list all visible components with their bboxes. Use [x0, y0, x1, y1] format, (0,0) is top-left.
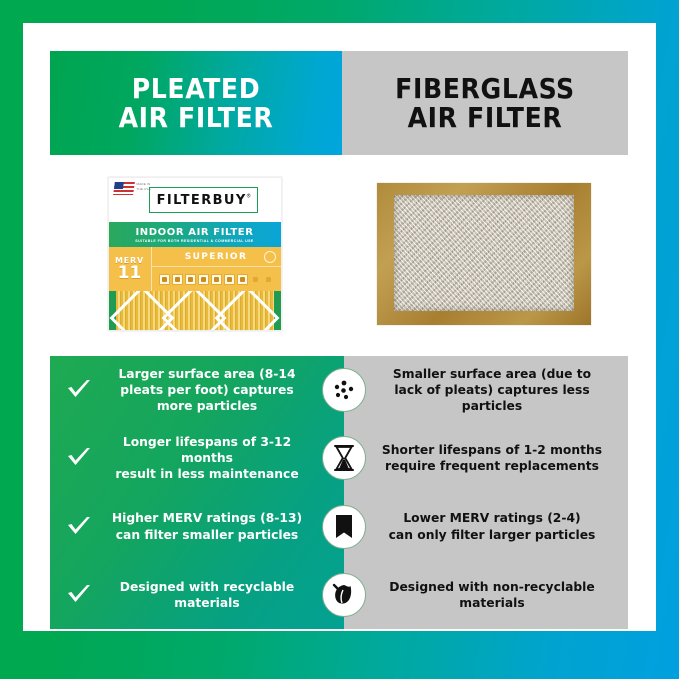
checkmark-icon: [60, 379, 98, 401]
infographic-canvas: PLEATED AIR FILTER FIBERGLASS AIR FILTER…: [0, 0, 679, 679]
header-row: PLEATED AIR FILTER FIBERGLASS AIR FILTER: [50, 51, 628, 155]
row4-left-cell: Designed with recyclable materials: [50, 579, 344, 611]
row3-right-cell: Lower MERV ratings (2-4) can only filter…: [344, 510, 628, 542]
row3-left-text: Higher MERV ratings (8-13) can filter sm…: [98, 510, 338, 542]
row2-left-line1: Longer lifespans of 3-12 months: [98, 434, 316, 466]
merv-value: 11: [118, 265, 142, 282]
row2-right-line1: Shorter lifespans of 1-2 months: [372, 442, 612, 458]
row2-left-line2: result in less maintenance: [98, 466, 316, 482]
diamond-support-2: [162, 291, 227, 331]
merv-badge: MERV 11: [109, 247, 152, 291]
leaf-icon: [322, 573, 366, 617]
row1-left-line2: pleats per foot) captures: [98, 382, 316, 398]
filterbuy-logo: FILTERBUY®: [149, 187, 259, 213]
comparison-row: Larger surface area (8-14 pleats per foo…: [50, 356, 628, 424]
checkmark-icon: [60, 516, 98, 538]
row4-left-line1: Designed with recyclable: [98, 579, 316, 595]
feature-icon-bacteria: [211, 274, 222, 285]
row4-left-line2: materials: [98, 595, 316, 611]
particles-icon: [322, 368, 366, 412]
pleat-support-grid: [116, 291, 274, 331]
pleated-box-top: MADE INTHE USA FILTERBUY®: [109, 178, 281, 222]
header-pleated-line1: PLEATED: [119, 74, 274, 103]
feature-icon-dust: [159, 274, 170, 285]
row2-left-text: Longer lifespans of 3-12 months result i…: [98, 434, 338, 483]
comparison-row: Longer lifespans of 3-12 months result i…: [50, 424, 628, 492]
comparison-panel: Larger surface area (8-14 pleats per foo…: [50, 356, 628, 629]
row1-left-line3: more particles: [98, 398, 316, 414]
feature-icon-smoke: [224, 274, 235, 285]
row1-right-line2: lack of pleats) captures less: [372, 382, 612, 398]
row2-left-cell: Longer lifespans of 3-12 months result i…: [50, 434, 344, 483]
row1-right-cell: Smaller surface area (due to lack of ple…: [344, 366, 628, 415]
recycle-circle-icon: [264, 251, 276, 263]
row3-left-line2: can filter smaller particles: [98, 527, 316, 543]
row4-left-text: Designed with recyclable materials: [98, 579, 338, 611]
comparison-rows: Larger surface area (8-14 pleats per foo…: [50, 356, 628, 629]
row1-right-line3: particles: [372, 398, 612, 414]
pleated-filter-product-image: MADE INTHE USA FILTERBUY® INDOOR AIR FIL…: [108, 177, 282, 331]
feature-icon-mold: [185, 274, 196, 285]
products-row: MADE INTHE USA FILTERBUY® INDOOR AIR FIL…: [50, 160, 628, 348]
fiberglass-mesh-texture: [394, 195, 574, 311]
header-pleated-line2: AIR FILTER: [119, 103, 274, 132]
diamond-support-1: [109, 291, 174, 331]
feature-icon-dander: [198, 274, 209, 285]
row4-right-line1: Designed with non-recyclable: [372, 579, 612, 595]
filterbuy-logo-text: FILTERBUY: [157, 193, 247, 208]
row1-left-text: Larger surface area (8-14 pleats per foo…: [98, 366, 338, 415]
pleated-box-merv-strip: MERV 11 SUPERIOR: [109, 247, 281, 291]
row2-right-line2: require frequent replacements: [372, 458, 612, 474]
comparison-row: Designed with recyclable materials Desig…: [50, 561, 628, 629]
fiberglass-filter-product-image: [377, 183, 591, 325]
bookmark-icon: [322, 505, 366, 549]
indoor-air-filter-sublabel: SUITABLE FOR BOTH RESIDENTIAL & COMMERCI…: [135, 239, 253, 243]
row1-right-line1: Smaller surface area (due to: [372, 366, 612, 382]
row3-left-cell: Higher MERV ratings (8-13) can filter sm…: [50, 510, 344, 542]
feature-icon-extra1: [250, 274, 261, 285]
row3-left-line1: Higher MERV ratings (8-13): [98, 510, 316, 526]
checkmark-icon: [60, 584, 98, 606]
trademark-symbol: ®: [247, 194, 251, 200]
row3-right-line1: Lower MERV ratings (2-4): [372, 510, 612, 526]
header-fiberglass: FIBERGLASS AIR FILTER: [342, 51, 628, 155]
checkmark-icon: [60, 447, 98, 469]
feature-icon-extra2: [263, 274, 274, 285]
comparison-row: Higher MERV ratings (8-13) can filter sm…: [50, 493, 628, 561]
header-pleated: PLEATED AIR FILTER: [50, 51, 342, 155]
usa-flag-icon: [113, 182, 135, 195]
row1-left-line1: Larger surface area (8-14: [98, 366, 316, 382]
pleated-box-grade-area: SUPERIOR: [152, 247, 281, 291]
diamond-support-3: [215, 291, 280, 331]
feature-icon-row: [152, 267, 281, 291]
pleated-media-graphic: FILTERBUY: [109, 291, 281, 331]
fiberglass-product-cell: [339, 160, 628, 348]
pleated-box-corner-text: MADE INTHE USA: [137, 182, 151, 191]
feature-icon-allergen: [237, 274, 248, 285]
row2-right-cell: Shorter lifespans of 1-2 months require …: [344, 442, 628, 474]
row4-right-line2: materials: [372, 595, 612, 611]
grade-label: SUPERIOR: [185, 252, 248, 262]
header-pleated-title: PLEATED AIR FILTER: [119, 74, 274, 133]
pleated-box-band: INDOOR AIR FILTER SUITABLE FOR BOTH RESI…: [109, 222, 281, 247]
feature-icon-pollen: [172, 274, 183, 285]
row1-left-cell: Larger surface area (8-14 pleats per foo…: [50, 366, 344, 415]
row4-right-cell: Designed with non-recyclable materials: [344, 579, 628, 611]
header-fiberglass-line1: FIBERGLASS: [395, 74, 575, 103]
pleated-product-cell: MADE INTHE USA FILTERBUY® INDOOR AIR FIL…: [50, 160, 339, 348]
header-fiberglass-title: FIBERGLASS AIR FILTER: [395, 74, 575, 133]
indoor-air-filter-label: INDOOR AIR FILTER: [135, 227, 253, 238]
header-fiberglass-line2: AIR FILTER: [395, 103, 575, 132]
row3-right-line2: can only filter larger particles: [372, 527, 612, 543]
grade-row: SUPERIOR: [152, 247, 281, 267]
